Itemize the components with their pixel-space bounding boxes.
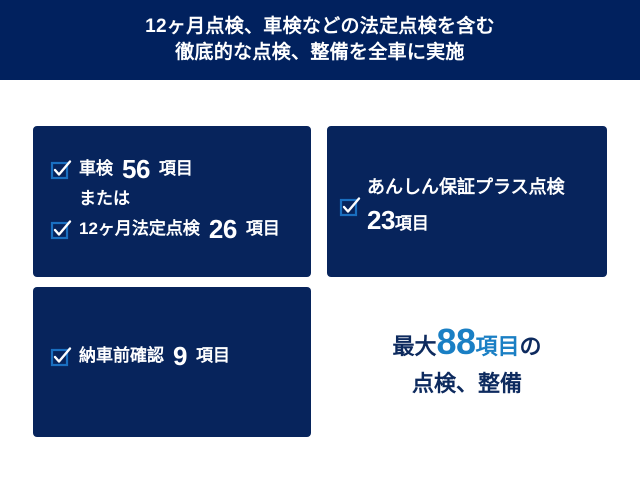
inspection-row-legal: 12ヶ月法定点検26項目 bbox=[51, 216, 311, 242]
checkbox-checked-icon bbox=[340, 197, 359, 216]
predelivery-card-suffix: 項目 bbox=[196, 343, 230, 369]
warranty-card-suffix: 項目 bbox=[395, 214, 429, 233]
warranty-card-number: 23 bbox=[367, 205, 395, 235]
predelivery-card-number: 9 bbox=[173, 343, 187, 369]
total-summary-particle: の bbox=[520, 334, 542, 359]
predelivery-card-label: 納車前確認 bbox=[79, 343, 164, 369]
inspection-row-or: または bbox=[51, 186, 311, 212]
total-summary-prefix: 最大 bbox=[392, 334, 436, 359]
inspection-row-or-label: または bbox=[79, 186, 130, 212]
inspection-row-legal-suffix: 項目 bbox=[246, 216, 280, 242]
inspection-row-shaken: 車検56項目 bbox=[51, 156, 311, 182]
warranty-card: あんしん保証プラス点検 23項目 bbox=[327, 126, 607, 277]
inspection-row-shaken-label: 車検 bbox=[79, 156, 113, 182]
inspection-row-legal-number: 26 bbox=[209, 216, 237, 242]
warranty-card-title: あんしん保証プラス点検 bbox=[367, 176, 565, 198]
total-summary: 最大88項目の 点検、整備 bbox=[327, 325, 607, 401]
inspection-row-shaken-suffix: 項目 bbox=[159, 156, 193, 182]
predelivery-card-content: 納車前確認9項目 bbox=[51, 343, 230, 369]
total-summary-unit: 項目 bbox=[476, 334, 520, 359]
header-banner: 12ヶ月点検、車検などの法定点検を含む 徹底的な点検、整備を全車に実施 bbox=[0, 0, 640, 80]
warranty-card-count: 23項目 bbox=[367, 207, 565, 237]
predelivery-card: 納車前確認9項目 bbox=[33, 287, 311, 437]
inspection-card: 車検56項目 または 12ヶ月法定点検26項目 bbox=[33, 126, 311, 277]
inspection-row-legal-label: 12ヶ月法定点検 bbox=[79, 216, 200, 242]
warranty-card-content: あんしん保証プラス点検 23項目 bbox=[340, 176, 565, 237]
header-line-1: 12ヶ月点検、車検などの法定点検を含む bbox=[145, 14, 495, 40]
inspection-row-shaken-number: 56 bbox=[122, 156, 150, 182]
total-summary-number: 88 bbox=[436, 321, 475, 362]
checkbox-checked-icon bbox=[51, 220, 70, 239]
total-summary-line-2: 点検、整備 bbox=[327, 367, 607, 401]
header-line-2: 徹底的な点検、整備を全車に実施 bbox=[175, 40, 465, 66]
checkbox-checked-icon bbox=[51, 160, 70, 179]
checkbox-checked-icon bbox=[51, 347, 70, 366]
warranty-card-lines: あんしん保証プラス点検 23項目 bbox=[367, 176, 565, 237]
total-summary-line-1: 最大88項目の bbox=[327, 325, 607, 367]
